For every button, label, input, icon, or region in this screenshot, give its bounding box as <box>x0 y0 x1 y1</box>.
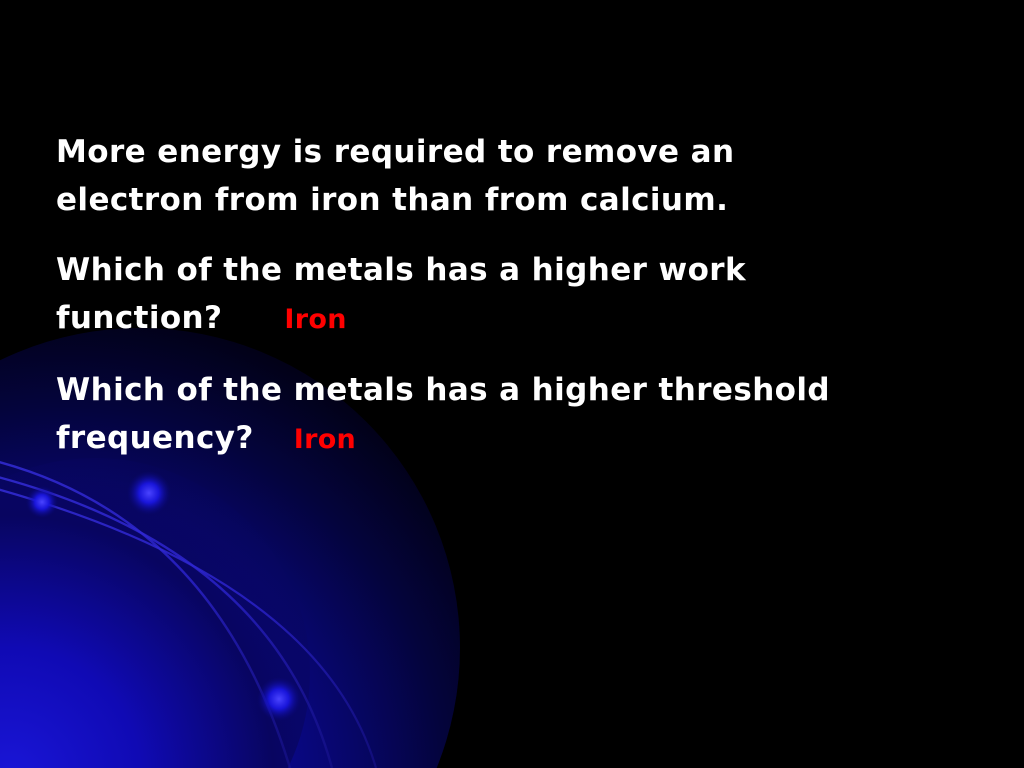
answer-1: Iron <box>284 296 346 344</box>
question-2-tail: frequency? <box>56 414 254 462</box>
orbit-arc-outer <box>0 487 376 768</box>
electron-node-3 <box>257 677 301 721</box>
answer-2: Iron <box>294 416 356 464</box>
question-1-answer-row: function? Iron <box>56 294 956 344</box>
electron-node-1 <box>26 486 58 518</box>
question-block-2: Which of the metals has a higher thresho… <box>56 366 956 464</box>
statement-text: More energy is required to remove an ele… <box>56 128 956 224</box>
slide-body: More energy is required to remove an ele… <box>56 128 956 486</box>
question-2-answer-row: frequency? Iron <box>56 414 956 464</box>
orbit-arc-inner <box>0 455 290 768</box>
question-1-head: Which of the metals has a higher work <box>56 246 956 294</box>
question-2-head: Which of the metals has a higher thresho… <box>56 366 956 414</box>
question-1-tail: function? <box>56 294 222 342</box>
question-block-1: Which of the metals has a higher work fu… <box>56 246 956 344</box>
slide-canvas: More energy is required to remove an ele… <box>0 0 1024 768</box>
corner-glow-inner <box>0 458 310 768</box>
orbit-arc-middle <box>0 470 332 768</box>
